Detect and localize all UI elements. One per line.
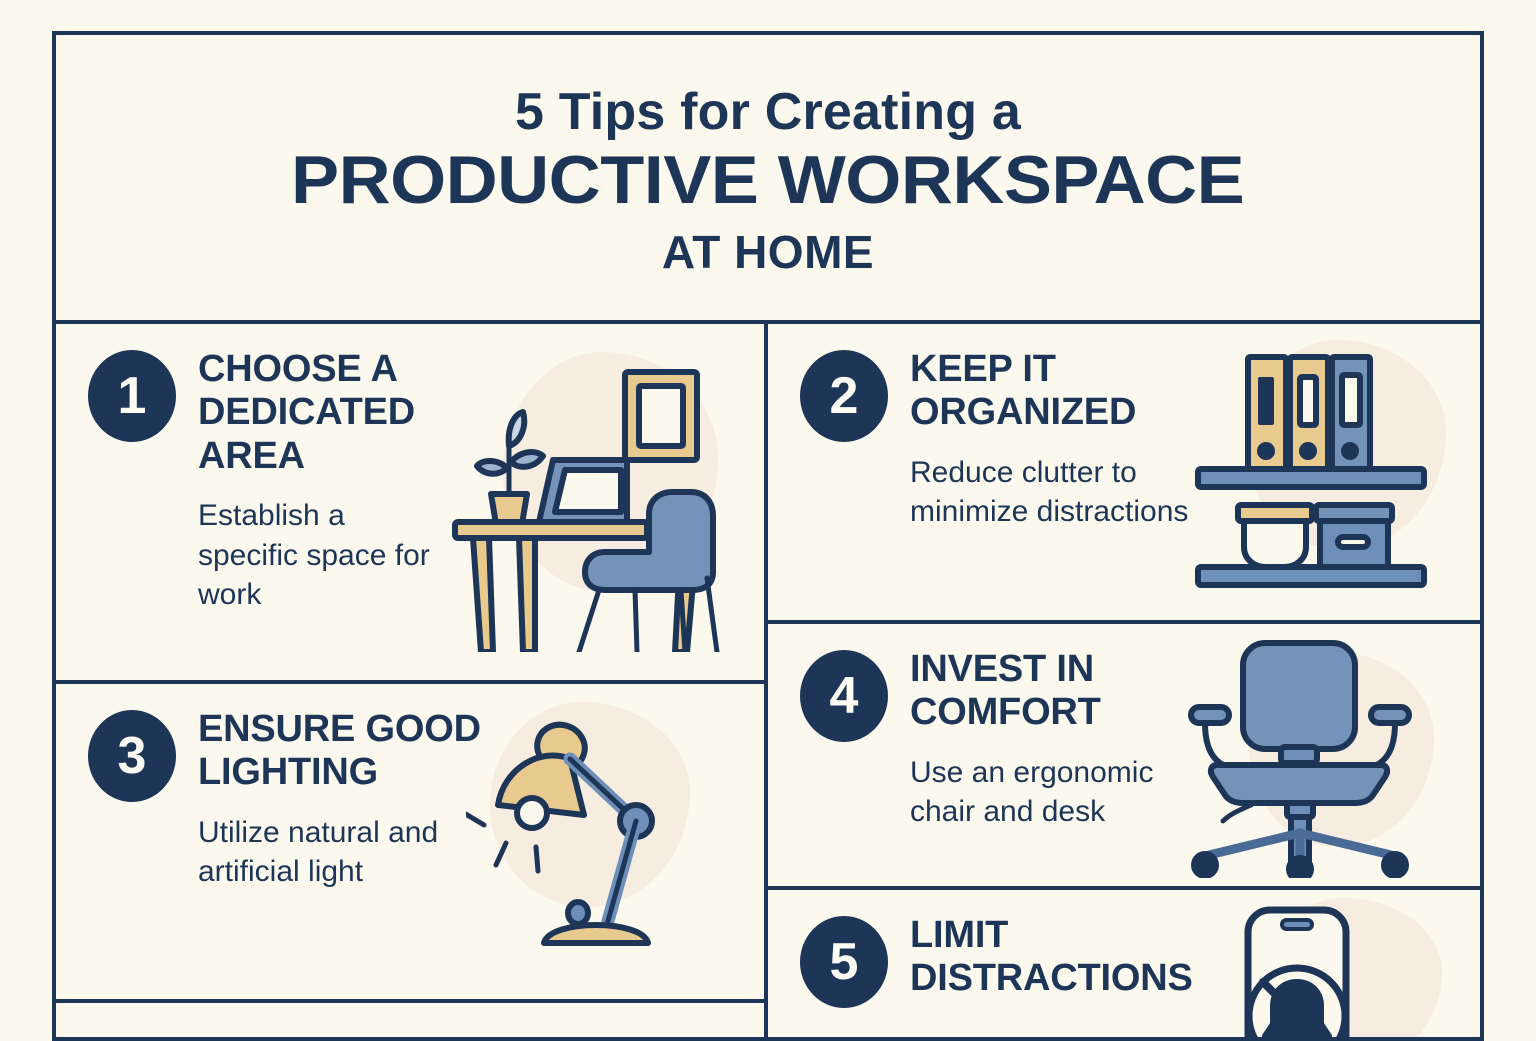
tip-description-4: Use an ergonomic chair and desk (910, 753, 1210, 832)
tip-title-4: INVEST IN COMFORT (910, 648, 1210, 735)
tip-card-2[interactable]: 2 KEEP IT ORGANIZED Reduce clutter to mi… (768, 324, 1480, 620)
tip-title-2: KEEP IT ORGANIZED (910, 348, 1210, 435)
tip-number-badge-5: 5 (800, 916, 888, 1008)
tip-description-2: Reduce clutter to minimize distractions (910, 453, 1210, 532)
title-line-2: PRODUCTIVE WORKSPACE (291, 144, 1244, 217)
tip-card-1[interactable]: 1 CHOOSE A DEDICATED AREA Establish a sp… (56, 324, 764, 680)
tip-number-badge-1: 1 (88, 350, 176, 442)
tip-card-left-stub (56, 999, 764, 1037)
tip-number-badge-3: 3 (88, 710, 176, 802)
poster-header: 5 Tips for Creating a PRODUCTIVE WORKSPA… (56, 35, 1480, 324)
tip-title-3: ENSURE GOOD LIGHTING (198, 708, 498, 795)
infographic-poster: 5 Tips for Creating a PRODUCTIVE WORKSPA… (52, 31, 1484, 1041)
tip-text-4: INVEST IN COMFORT Use an ergonomic chair… (910, 648, 1210, 832)
tip-description-3: Utilize natural and artificial light (198, 813, 498, 892)
tip-text-3: ENSURE GOOD LIGHTING Utilize natural and… (198, 708, 498, 892)
tips-grid: 1 CHOOSE A DEDICATED AREA Establish a sp… (56, 324, 1480, 1037)
tips-column-left: 1 CHOOSE A DEDICATED AREA Establish a sp… (56, 324, 768, 1037)
tip-description-1: Establish a specific space for work (198, 496, 448, 615)
tip-number-badge-4: 4 (800, 650, 888, 742)
shelf-with-binders-boxes-icon (1180, 324, 1480, 620)
tip-card-4[interactable]: 4 INVEST IN COMFORT Use an ergonomic cha… (768, 620, 1480, 886)
title-line-1: 5 Tips for Creating a (515, 85, 1021, 140)
title-line-3: AT HOME (662, 227, 874, 278)
tip-number-badge-2: 2 (800, 350, 888, 442)
tip-card-5[interactable]: 5 LIMIT DISTRACTIONS (768, 886, 1480, 1037)
tip-text-5: LIMIT DISTRACTIONS (910, 914, 1210, 1001)
tip-title-5: LIMIT DISTRACTIONS (910, 914, 1210, 1001)
tip-title-1: CHOOSE A DEDICATED AREA (198, 348, 498, 478)
tips-column-right: 2 KEEP IT ORGANIZED Reduce clutter to mi… (768, 324, 1480, 1037)
tip-text-2: KEEP IT ORGANIZED Reduce clutter to mini… (910, 348, 1210, 532)
tip-text-1: CHOOSE A DEDICATED AREA Establish a spec… (198, 348, 498, 615)
tip-card-3[interactable]: 3 ENSURE GOOD LIGHTING Utilize natural a… (56, 680, 764, 999)
